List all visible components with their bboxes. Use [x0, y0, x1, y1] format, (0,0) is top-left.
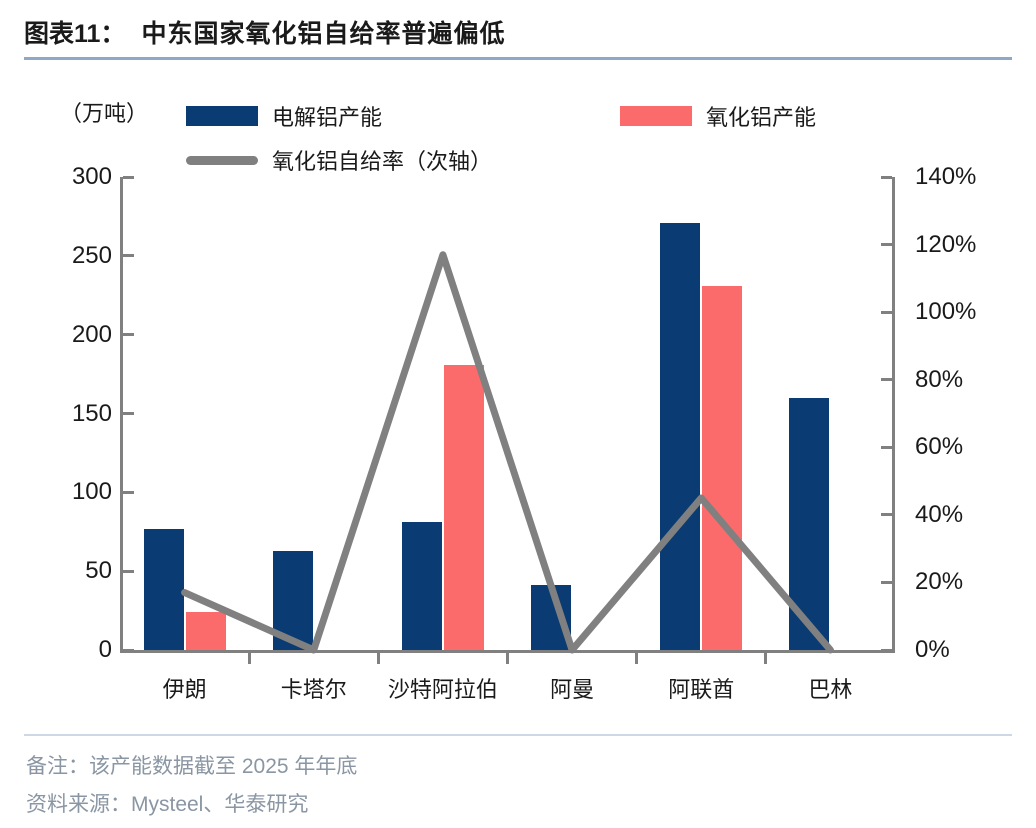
legend-swatch-pink [620, 106, 692, 126]
x-axis-category-label: 巴林 [808, 672, 852, 704]
legend-item-alumina-capacity: 氧化铝产能 [620, 100, 816, 132]
x-axis-category-label: 卡塔尔 [281, 672, 347, 704]
line-alumina-self-sufficiency-rate [185, 255, 831, 650]
x-axis-tick [506, 653, 509, 664]
legend-label: 氧化铝产能 [706, 100, 816, 132]
figure-label: 图表11： [24, 14, 125, 50]
x-axis-category-label: 沙特阿拉伯 [388, 672, 498, 704]
left-axis-tick-label: 50 [12, 557, 112, 585]
right-axis-tick-label: 120% [915, 231, 1035, 259]
legend-swatch-blue [186, 106, 258, 126]
legend-swatch-gray-line [186, 156, 258, 165]
left-axis-tick-label: 300 [12, 163, 112, 191]
right-axis-tick-label: 60% [915, 433, 1035, 461]
y-axis-unit-label: （万吨） [60, 96, 148, 128]
footnote-note: 备注：该产能数据截至 2025 年年底 [26, 750, 357, 780]
left-axis-tick-label: 200 [12, 321, 112, 349]
footnote-source: 资料来源：Mysteel、华泰研究 [26, 788, 308, 818]
x-axis-tick [764, 653, 767, 664]
legend-item-alumina-self-sufficiency-rate: 氧化铝自给率（次轴） [186, 144, 492, 176]
right-axis-tick-label: 140% [915, 163, 1035, 191]
figure-title-text: 中东国家氧化铝自给率普遍偏低 [141, 14, 505, 50]
right-axis-tick-label: 40% [915, 501, 1035, 529]
footer-divider [24, 734, 1012, 736]
x-axis-tick [248, 653, 251, 664]
plot-area [120, 177, 895, 650]
legend-item-electrolytic-aluminum-capacity: 电解铝产能 [186, 100, 382, 132]
right-axis-tick-label: 20% [915, 568, 1035, 596]
left-axis-tick-label: 100 [12, 478, 112, 506]
chart-page: 图表11： 中东国家氧化铝自给率普遍偏低 （万吨） 电解铝产能 氧化铝产能 氧化… [0, 0, 1036, 828]
right-axis-tick-label: 100% [915, 298, 1035, 326]
x-axis-category-label: 阿联酋 [668, 672, 734, 704]
left-axis-tick-label: 0 [12, 636, 112, 664]
right-axis-tick-label: 80% [915, 366, 1035, 394]
x-axis-tick [635, 653, 638, 664]
line-series-layer [120, 177, 895, 650]
x-axis-category-label: 伊朗 [163, 672, 207, 704]
legend-label: 电解铝产能 [272, 100, 382, 132]
legend-label: 氧化铝自给率（次轴） [272, 144, 492, 176]
left-axis-tick-label: 250 [12, 242, 112, 270]
x-axis-tick [377, 653, 380, 664]
x-axis-category-label: 阿曼 [550, 672, 594, 704]
page-title: 图表11： 中东国家氧化铝自给率普遍偏低 [24, 14, 1012, 58]
title-divider [24, 57, 1012, 60]
right-axis-tick-label: 0% [915, 636, 1035, 664]
left-axis-tick-label: 150 [12, 400, 112, 428]
